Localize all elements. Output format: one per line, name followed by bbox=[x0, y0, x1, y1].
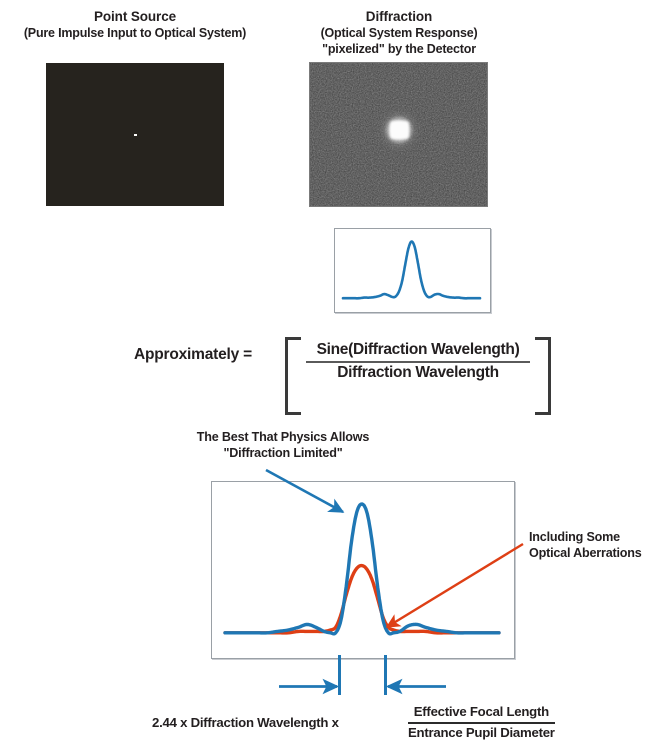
red-callout-arrow bbox=[387, 544, 523, 627]
airy-formula-fraction: Effective Focal Length Entrance Pupil Di… bbox=[408, 704, 555, 741]
airy-formula-bar bbox=[408, 722, 555, 724]
airy-formula-numerator: Effective Focal Length bbox=[408, 704, 555, 721]
blue-callout-arrow bbox=[266, 470, 343, 512]
airy-formula-denominator: Entrance Pupil Diameter bbox=[408, 725, 555, 742]
airy-formula-prefix: 2.44 x Diffraction Wavelength x bbox=[152, 715, 339, 730]
annotation-arrows-layer bbox=[0, 0, 660, 747]
